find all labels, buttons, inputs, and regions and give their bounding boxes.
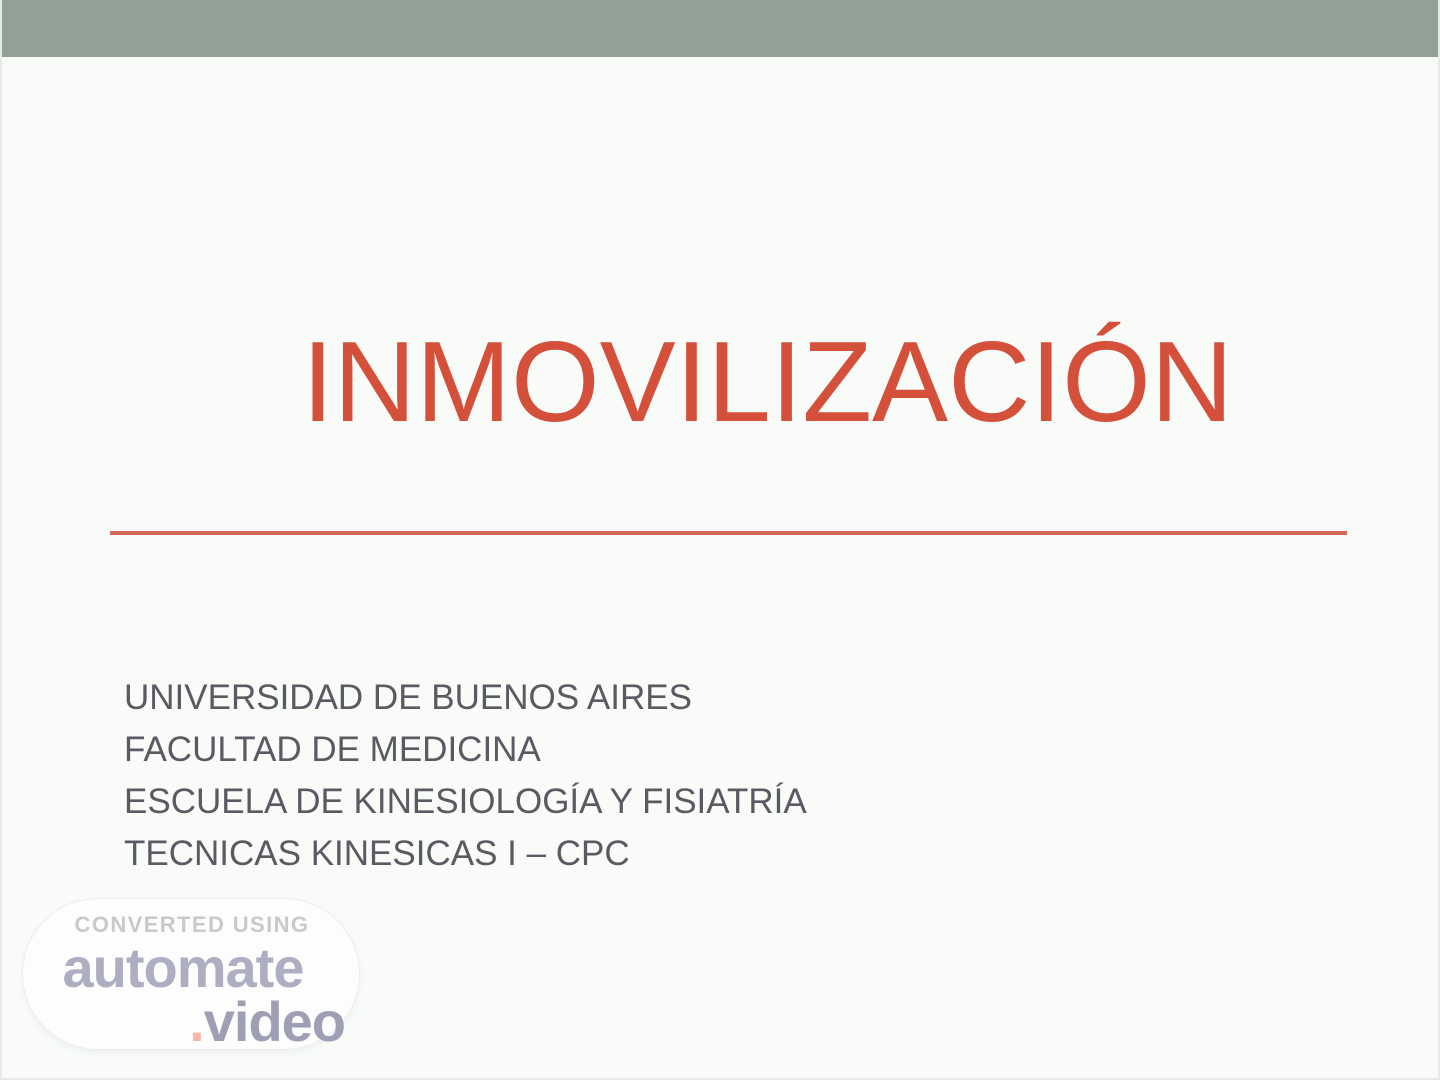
subtitle-line-school: ESCUELA DE KINESIOLOGÍA Y FISIATRÍA xyxy=(124,776,1224,828)
slide-accent-band xyxy=(2,0,1440,57)
subtitle-line-course: TECNICAS KINESICAS I – CPC xyxy=(124,828,1224,880)
subtitle-line-faculty: FACULTAD DE MEDICINA xyxy=(124,724,1224,776)
slide-title: INMOVILIZACIÓN xyxy=(302,318,1362,448)
title-divider-rule xyxy=(110,531,1347,535)
watermark-eyebrow-text: CONVERTED USING xyxy=(23,912,361,938)
automate-video-watermark: CONVERTED USING automate .video xyxy=(22,898,360,1050)
watermark-domain-text: video xyxy=(204,990,345,1053)
watermark-brand-text: automate xyxy=(23,939,343,997)
presentation-slide: INMOVILIZACIÓN UNIVERSIDAD DE BUENOS AIR… xyxy=(0,0,1440,1080)
subtitle-line-university: UNIVERSIDAD DE BUENOS AIRES xyxy=(124,672,1224,724)
watermark-domain-row: .video xyxy=(23,993,345,1051)
slide-subtitle-block: UNIVERSIDAD DE BUENOS AIRES FACULTAD DE … xyxy=(124,672,1224,880)
watermark-dot: . xyxy=(189,990,204,1053)
